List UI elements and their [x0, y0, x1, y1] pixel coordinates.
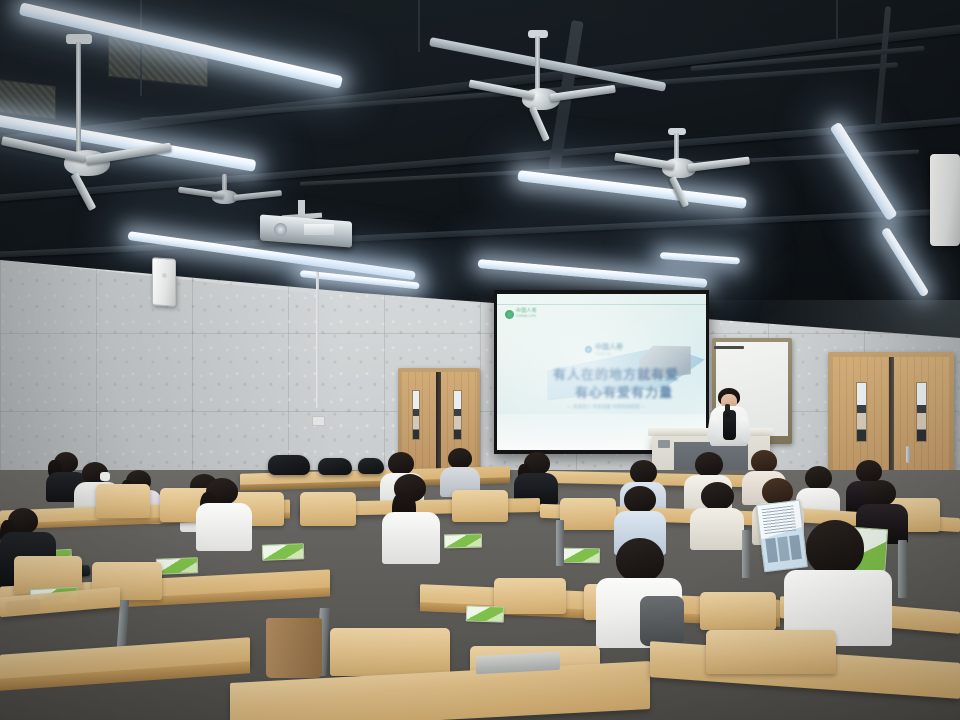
student [382, 474, 440, 560]
chair [700, 592, 776, 630]
fan-blade [529, 106, 550, 142]
ceiling-fan [510, 30, 680, 140]
brochure [444, 534, 482, 549]
fan-blade [549, 85, 615, 102]
ceiling-projector [252, 200, 362, 262]
chair [330, 628, 450, 676]
ceiling-hanger-rod [418, 0, 420, 52]
chair [706, 630, 836, 674]
brochure [560, 548, 600, 564]
student [514, 452, 558, 504]
ceiling-fan [652, 128, 802, 228]
backpack [318, 458, 352, 475]
student [690, 482, 744, 546]
desk-leg [898, 540, 907, 598]
ceiling-fan [62, 34, 232, 174]
brochure [156, 557, 199, 574]
face-mask [100, 472, 110, 481]
lectern-control-plate [658, 440, 670, 448]
wall-conduit [316, 272, 319, 408]
backpack [268, 455, 310, 475]
projection-screen: 中国人寿 CHINA LIFE 中国人寿 China Life 有人在的地方就有… [497, 294, 706, 450]
brochure [466, 605, 505, 622]
brochure [262, 543, 305, 560]
chair [300, 492, 356, 526]
fan-blade [85, 143, 171, 165]
wall-speaker [152, 257, 176, 307]
waste-bin [266, 618, 322, 678]
chair [452, 490, 508, 522]
door-window [453, 390, 462, 440]
whiteboard-marker-tray [714, 346, 744, 349]
chair [560, 498, 616, 530]
door-handle[interactable] [906, 446, 910, 463]
desk-leg [742, 530, 750, 578]
door-window [916, 382, 927, 442]
door-window [856, 382, 867, 442]
student [784, 520, 892, 638]
chair [96, 484, 150, 518]
ceiling-hanger-rod [836, 0, 838, 40]
fan-blade [688, 156, 751, 171]
presenter [700, 388, 758, 446]
projector-lens [274, 223, 287, 236]
desk-leg [556, 520, 564, 566]
fan-blade [669, 176, 689, 208]
chair [494, 578, 566, 614]
student [596, 538, 682, 642]
student [440, 448, 480, 496]
student-shoulder [640, 596, 684, 646]
lecture-hall-photo: 中国人寿 CHINA LIFE 中国人寿 China Life 有人在的地方就有… [0, 0, 960, 720]
microphone [725, 404, 730, 417]
student [196, 478, 252, 548]
door-window [412, 390, 420, 440]
wall-outlet [312, 416, 325, 426]
